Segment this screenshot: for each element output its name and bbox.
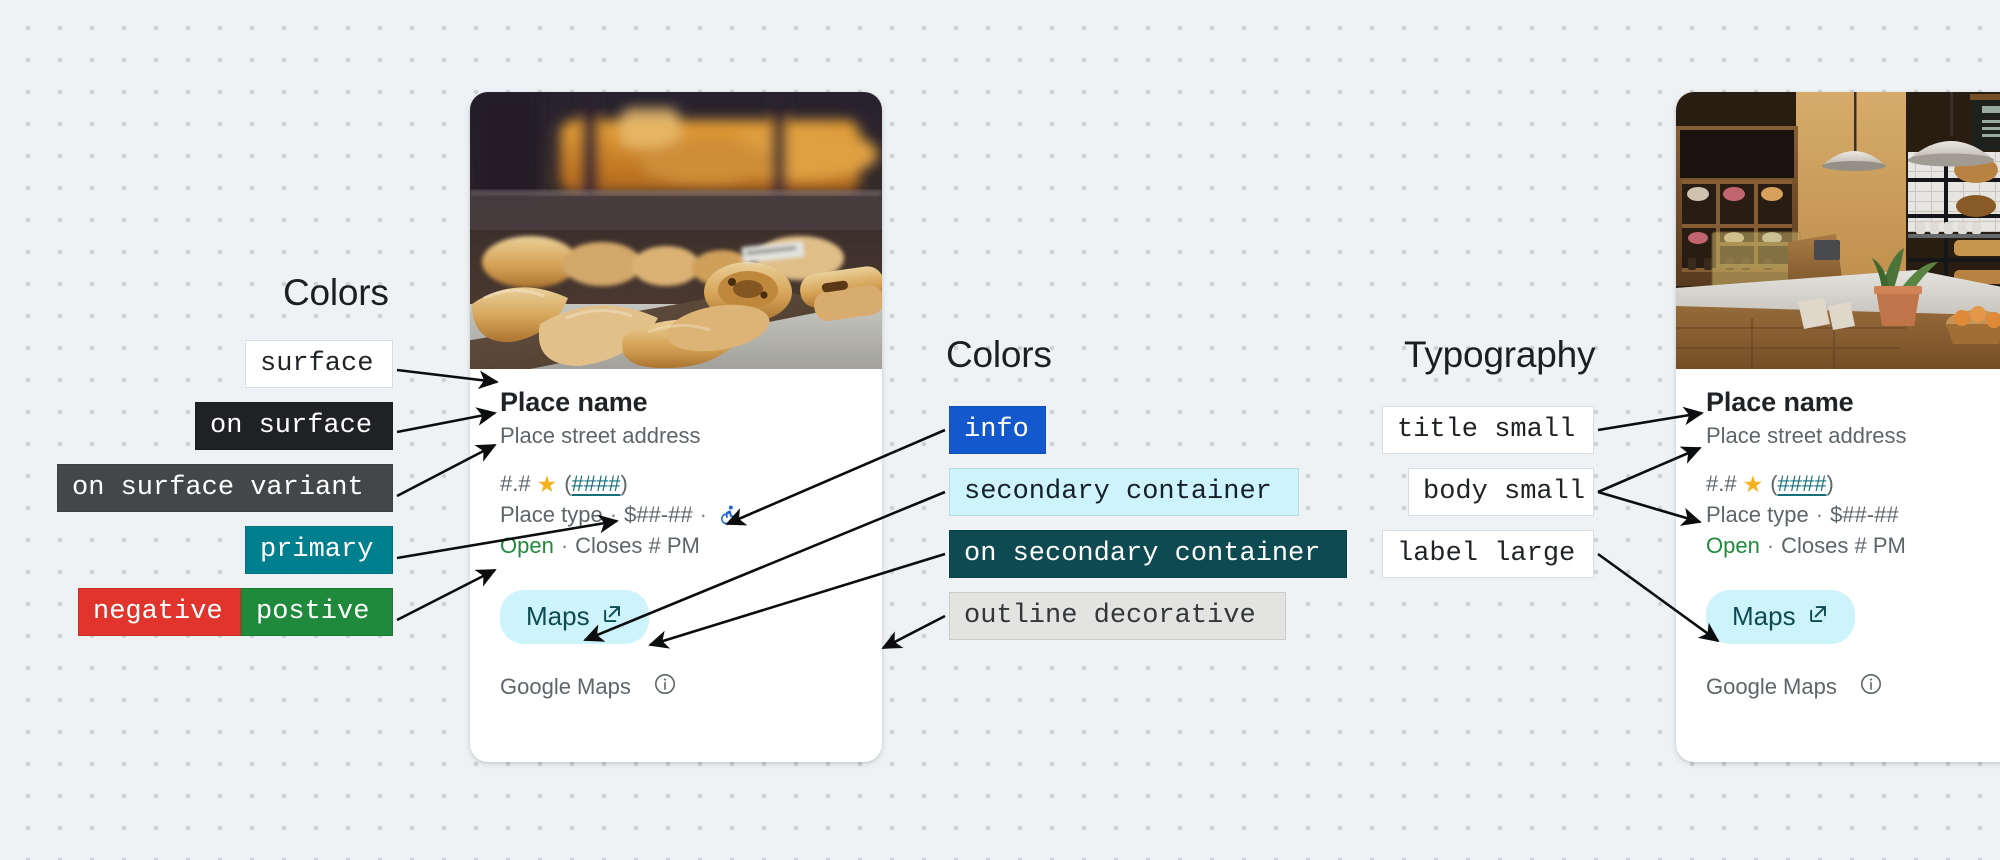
rating-value: #.# xyxy=(500,471,531,497)
color-chip-postive[interactable]: postive xyxy=(241,588,393,636)
type-chip-label: title small xyxy=(1397,417,1575,444)
place-type: Place type xyxy=(1706,502,1809,528)
place-name: Place name xyxy=(1706,387,2000,418)
closing-time: Closes # PM xyxy=(575,533,700,559)
place-card-right[interactable]: Place name Place street address #.# ★ ( … xyxy=(1676,92,2000,762)
place-type-row: Place type · $##-## xyxy=(1706,502,2000,528)
place-address: Place street address xyxy=(1706,423,2000,449)
separator-dot: · xyxy=(561,533,568,559)
separator-dot: · xyxy=(700,502,707,528)
place-card-footer: Google Maps xyxy=(1676,644,2000,724)
open-status: Open xyxy=(1706,533,1760,559)
paren-close: ) xyxy=(1827,471,1834,497)
place-rating-row: #.# ★ ( #### ) xyxy=(500,471,852,497)
color-chip-label: primary xyxy=(260,537,373,564)
type-chip-label-large[interactable]: label large xyxy=(1382,530,1594,578)
accessibility-icon xyxy=(717,504,739,526)
place-card-body: Place name Place street address #.# ★ ( … xyxy=(470,369,882,644)
color-chip-on-surface-variant[interactable]: on surface variant xyxy=(57,464,393,512)
color-chip-label: info xyxy=(964,417,1029,444)
place-price: $##-## xyxy=(624,502,693,528)
review-count-link[interactable]: #### xyxy=(572,471,621,497)
place-address: Place street address xyxy=(500,423,852,449)
google-maps-attribution: Google Maps xyxy=(1706,674,1837,700)
maps-button[interactable]: Maps xyxy=(1706,590,1855,644)
type-chip-title-small[interactable]: title small xyxy=(1382,406,1594,454)
paren-close: ) xyxy=(621,471,628,497)
place-card-footer: Google Maps xyxy=(470,644,882,724)
canvas-stage: Colors Colors Typography surface on surf… xyxy=(0,0,2000,860)
external-link-icon xyxy=(1807,601,1829,632)
separator-dot: · xyxy=(610,502,617,528)
closing-time: Closes # PM xyxy=(1781,533,1906,559)
color-chip-label: secondary container xyxy=(964,479,1272,506)
maps-button[interactable]: Maps xyxy=(500,590,649,644)
paren-open: ( xyxy=(1770,471,1777,497)
color-chip-on-surface[interactable]: on surface xyxy=(195,402,393,450)
color-chip-label: surface xyxy=(260,351,373,378)
place-hours-row: Open · Closes # PM xyxy=(500,533,852,559)
color-chip-primary[interactable]: primary xyxy=(245,526,393,574)
section-title-colors-mid: Colors xyxy=(946,334,1052,376)
color-chip-label: on surface xyxy=(210,413,372,440)
color-chip-label: on surface variant xyxy=(72,475,364,502)
color-chip-label: on secondary container xyxy=(964,541,1320,568)
separator-dot: · xyxy=(1816,502,1823,528)
separator-dot: · xyxy=(1767,533,1774,559)
maps-button-label: Maps xyxy=(1732,601,1796,632)
color-chip-label: postive xyxy=(256,599,369,626)
star-icon: ★ xyxy=(1743,473,1764,496)
review-count-link[interactable]: #### xyxy=(1778,471,1827,497)
color-chip-on-secondary-container[interactable]: on secondary container xyxy=(949,530,1347,578)
paren-open: ( xyxy=(564,471,571,497)
type-chip-body-small[interactable]: body small xyxy=(1408,468,1594,516)
info-icon[interactable] xyxy=(1859,672,1883,702)
maps-button-label: Maps xyxy=(526,601,590,632)
place-type-row: Place type · $##-## · xyxy=(500,502,852,528)
star-icon: ★ xyxy=(537,473,558,496)
place-hours-row: Open · Closes # PM xyxy=(1706,533,2000,559)
place-price: $##-## xyxy=(1830,502,1899,528)
color-chip-secondary-container[interactable]: secondary container xyxy=(949,468,1299,516)
color-chip-label: negative xyxy=(93,599,223,626)
color-chip-label: outline decorative xyxy=(964,603,1256,630)
type-chip-label: body small xyxy=(1423,479,1585,506)
color-chip-info[interactable]: info xyxy=(949,406,1046,454)
place-rating-row: #.# ★ ( #### ) xyxy=(1706,471,2000,497)
place-type: Place type xyxy=(500,502,603,528)
info-icon[interactable] xyxy=(653,672,677,702)
section-title-typography: Typography xyxy=(1404,334,1595,376)
open-status: Open xyxy=(500,533,554,559)
external-link-icon xyxy=(601,601,623,632)
section-title-colors-left: Colors xyxy=(283,272,389,314)
color-chip-outline-decorative[interactable]: outline decorative xyxy=(949,592,1286,640)
place-card-body: Place name Place street address #.# ★ ( … xyxy=(1676,369,2000,644)
place-card-left[interactable]: Place name Place street address #.# ★ ( … xyxy=(470,92,882,762)
color-chip-negative[interactable]: negative xyxy=(78,588,241,636)
place-photo-bakery xyxy=(470,92,882,369)
color-chip-surface[interactable]: surface xyxy=(245,340,393,388)
type-chip-label: label large xyxy=(1397,541,1575,568)
place-photo-cafe xyxy=(1676,92,2000,369)
google-maps-attribution: Google Maps xyxy=(500,674,631,700)
rating-value: #.# xyxy=(1706,471,1737,497)
place-name: Place name xyxy=(500,387,852,418)
